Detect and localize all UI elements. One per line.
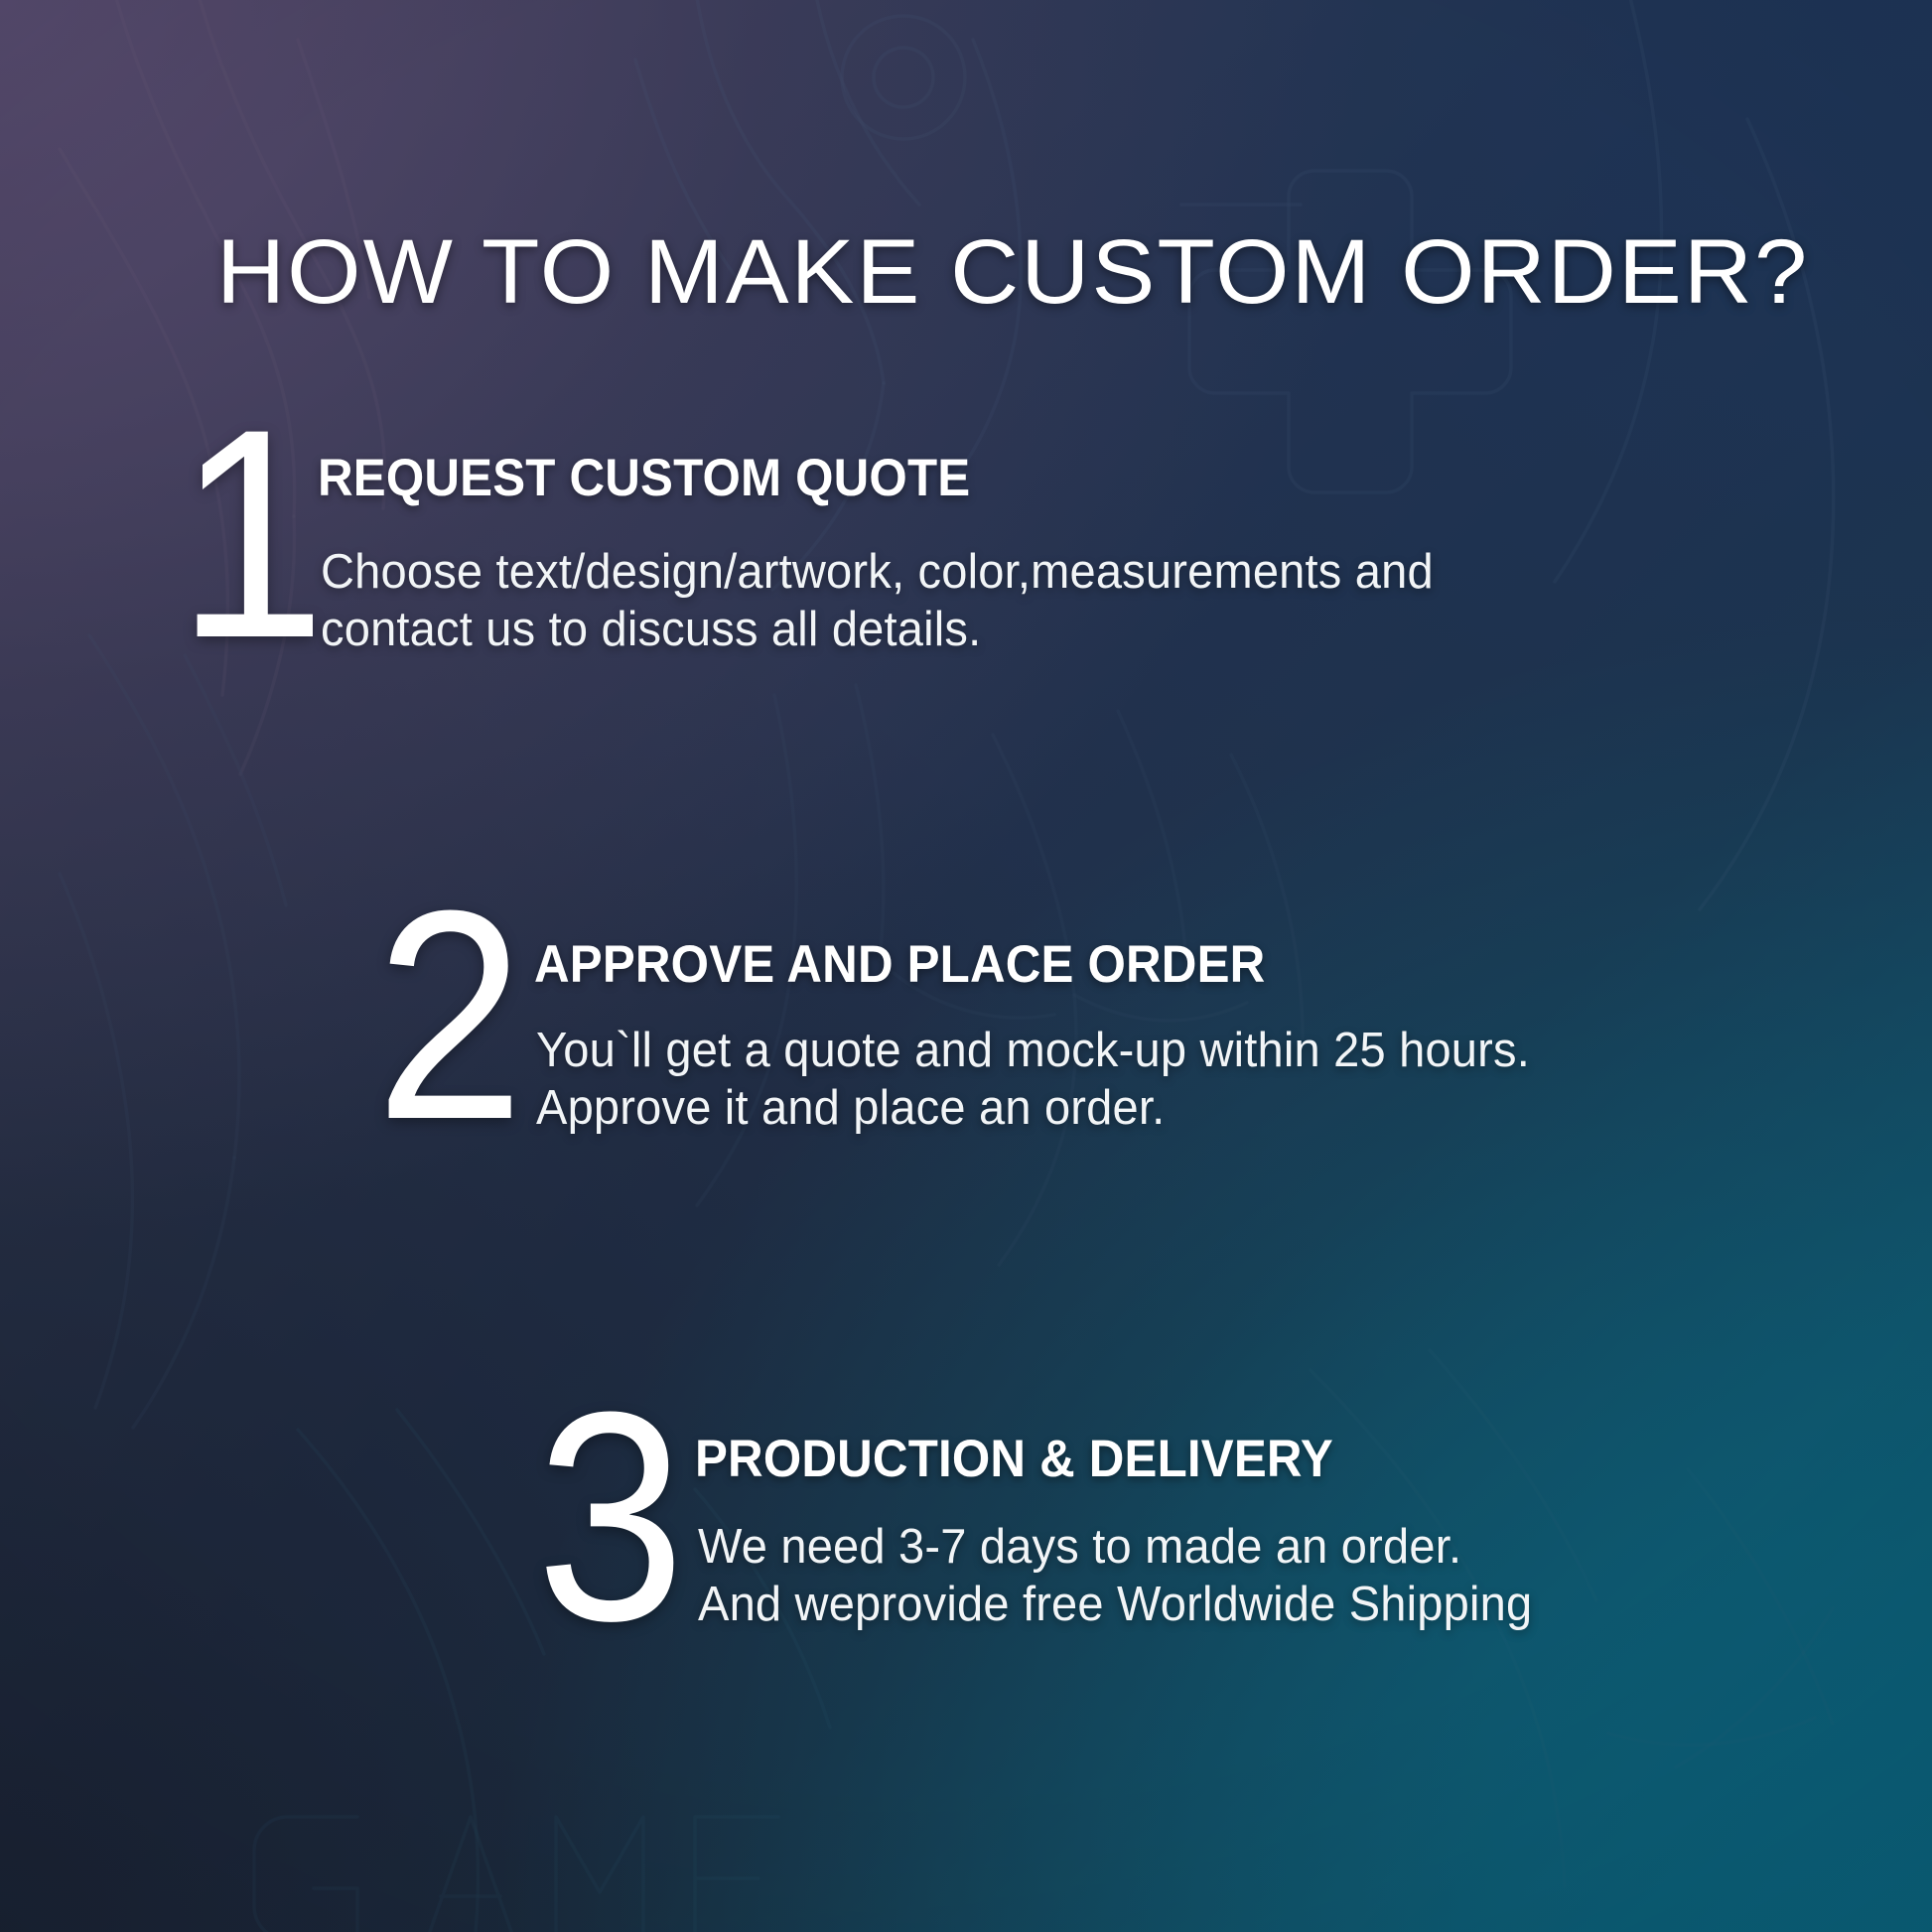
step-body-3-line-1: We need 3-7 days to made an order. <box>698 1519 1532 1577</box>
step-body-3-line-2: And weprovide free Worldwide Shipping <box>698 1577 1532 1634</box>
step-heading-3: PRODUCTION & DELIVERY <box>695 1433 1333 1485</box>
poster-content: HOW TO MAKE CUSTOM ORDER? 1 REQUEST CUST… <box>0 0 1932 1932</box>
step-item-3: 3 PRODUCTION & DELIVERY We need 3-7 days… <box>0 0 1932 1932</box>
step-body-3: We need 3-7 days to made an order. And w… <box>698 1519 1532 1634</box>
step-number-3: 3 <box>536 1400 680 1632</box>
poster-canvas: HOW TO MAKE CUSTOM ORDER? 1 REQUEST CUST… <box>0 0 1932 1932</box>
